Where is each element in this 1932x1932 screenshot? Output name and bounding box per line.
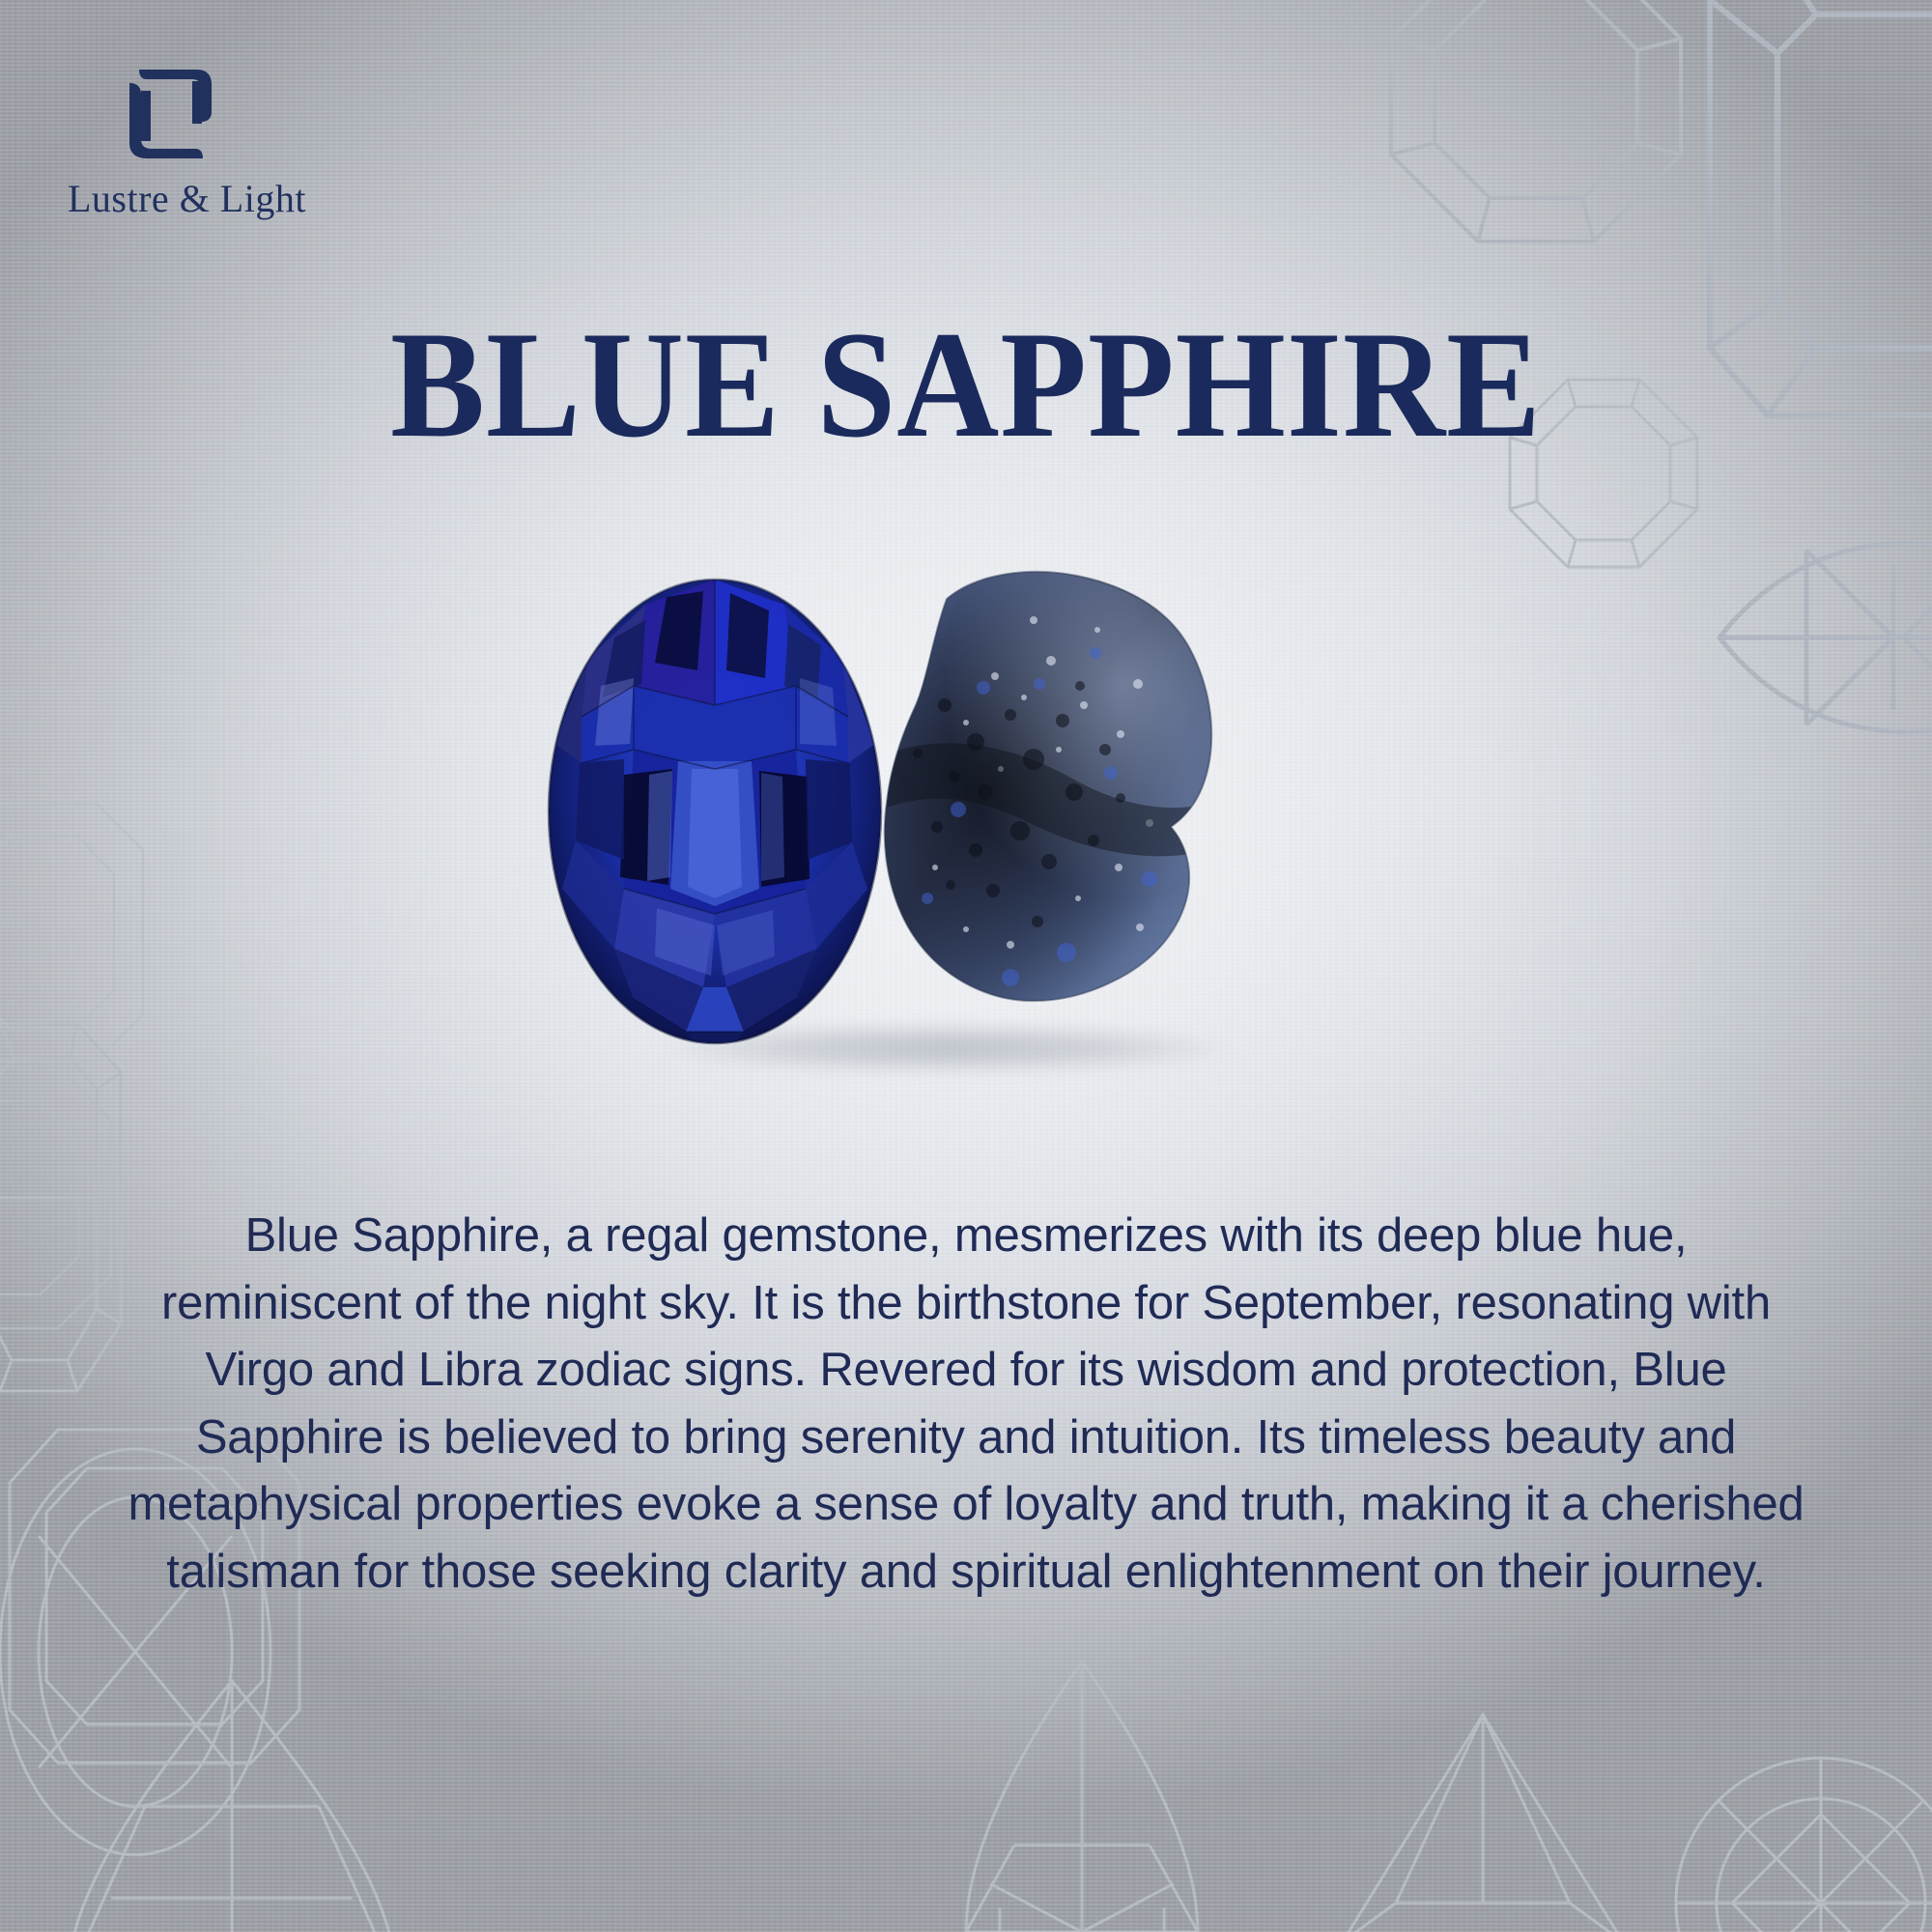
hero-gemstone-group	[541, 560, 1410, 1101]
triangle-gem-outline	[1323, 1695, 1642, 1932]
pear-gem-outline	[908, 1642, 1314, 1932]
oval-cut-blue-sapphire-gem	[541, 570, 889, 1053]
lustre-light-monogram-icon	[126, 66, 214, 162]
emerald-cut-gem-outline	[0, 792, 155, 1072]
description-paragraph: Blue Sapphire, a regal gemstone, mesmeri…	[126, 1203, 1806, 1605]
poster-canvas: Lustre & Light BLUE SAPPHIRE	[0, 0, 1932, 1932]
page-title: BLUE SAPPHIRE	[68, 309, 1864, 462]
octagon-gem-outline	[1381, 0, 1690, 251]
pear-gem-outline	[29, 1671, 531, 1932]
marquise-gem-outline	[1700, 483, 1932, 792]
brand-wordmark: Lustre & Light	[68, 176, 357, 221]
round-brilliant-gem-outline	[1662, 1744, 1932, 1932]
rough-uncut-blue-sapphire-crystal	[831, 560, 1236, 1043]
octagon-gem-outline	[0, 1053, 145, 1343]
brand-logo[interactable]: Lustre & Light	[68, 66, 357, 221]
